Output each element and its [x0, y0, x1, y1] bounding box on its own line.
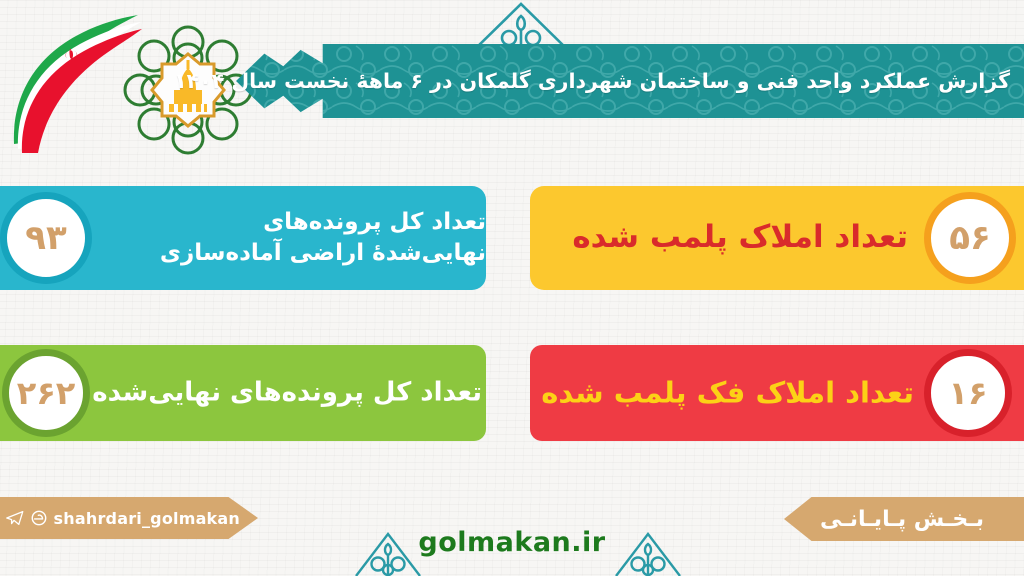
stat-card-total-finalized-files[interactable]: تعداد کل پرونده‌های نهایی‌شده ۲۶۲: [0, 345, 486, 441]
stat-card-unsealed-properties[interactable]: تعداد املاک فک پلمب شده ۱۶: [530, 345, 1024, 441]
stat-card-label: تعداد کل پرونده‌های نهایی‌شدۀ اراضی آماد…: [96, 207, 486, 269]
stat-value-circle: ۱۶: [924, 349, 1012, 437]
stat-card-sealed-properties[interactable]: تعداد املاک پلمب شده ۵۶: [530, 186, 1024, 290]
stat-card-ground-files[interactable]: تعداد کل پرونده‌های نهایی‌شدۀ اراضی آماد…: [0, 186, 486, 290]
eitaa-icon[interactable]: [31, 508, 47, 528]
persian-arch-ornament-icon: [466, 0, 576, 50]
telegram-paper-plane-icon[interactable]: [6, 509, 24, 527]
header: گزارش عملکرد واحد فنی و ساختمان شهرداری …: [0, 0, 1024, 165]
closing-section-banner: بـخـش پـایـانـی: [784, 497, 1024, 541]
stat-card-label: تعداد کل پرونده‌های نهایی‌شده: [92, 375, 482, 410]
stat-card-label-line2: نهایی‌شدۀ اراضی آماده‌سازی: [96, 238, 486, 269]
persian-arch-ornament-icon: [612, 528, 684, 576]
stat-card-label-line1: تعداد کل پرونده‌های: [96, 207, 486, 238]
title-banner: گزارش عملکرد واحد فنی و ساختمان شهرداری …: [236, 44, 1024, 118]
social-handle-text: shahrdari_golmakan: [54, 509, 240, 528]
page-title: گزارش عملکرد واحد فنی و ساختمان شهرداری …: [336, 69, 1010, 93]
stat-value-circle: ۹۳: [0, 192, 92, 284]
iran-flag-ribbon-icon: [2, 12, 142, 154]
stat-card-label: تعداد املاک فک پلمب شده: [536, 373, 914, 412]
stat-card-label: تعداد املاک پلمب شده: [536, 217, 908, 259]
infographic-canvas: گزارش عملکرد واحد فنی و ساختمان شهرداری …: [0, 0, 1024, 576]
stat-value-circle: ۲۶۲: [2, 349, 90, 437]
stat-value-circle: ۵۶: [924, 192, 1016, 284]
closing-section-label: بـخـش پـایـانـی: [820, 507, 984, 532]
